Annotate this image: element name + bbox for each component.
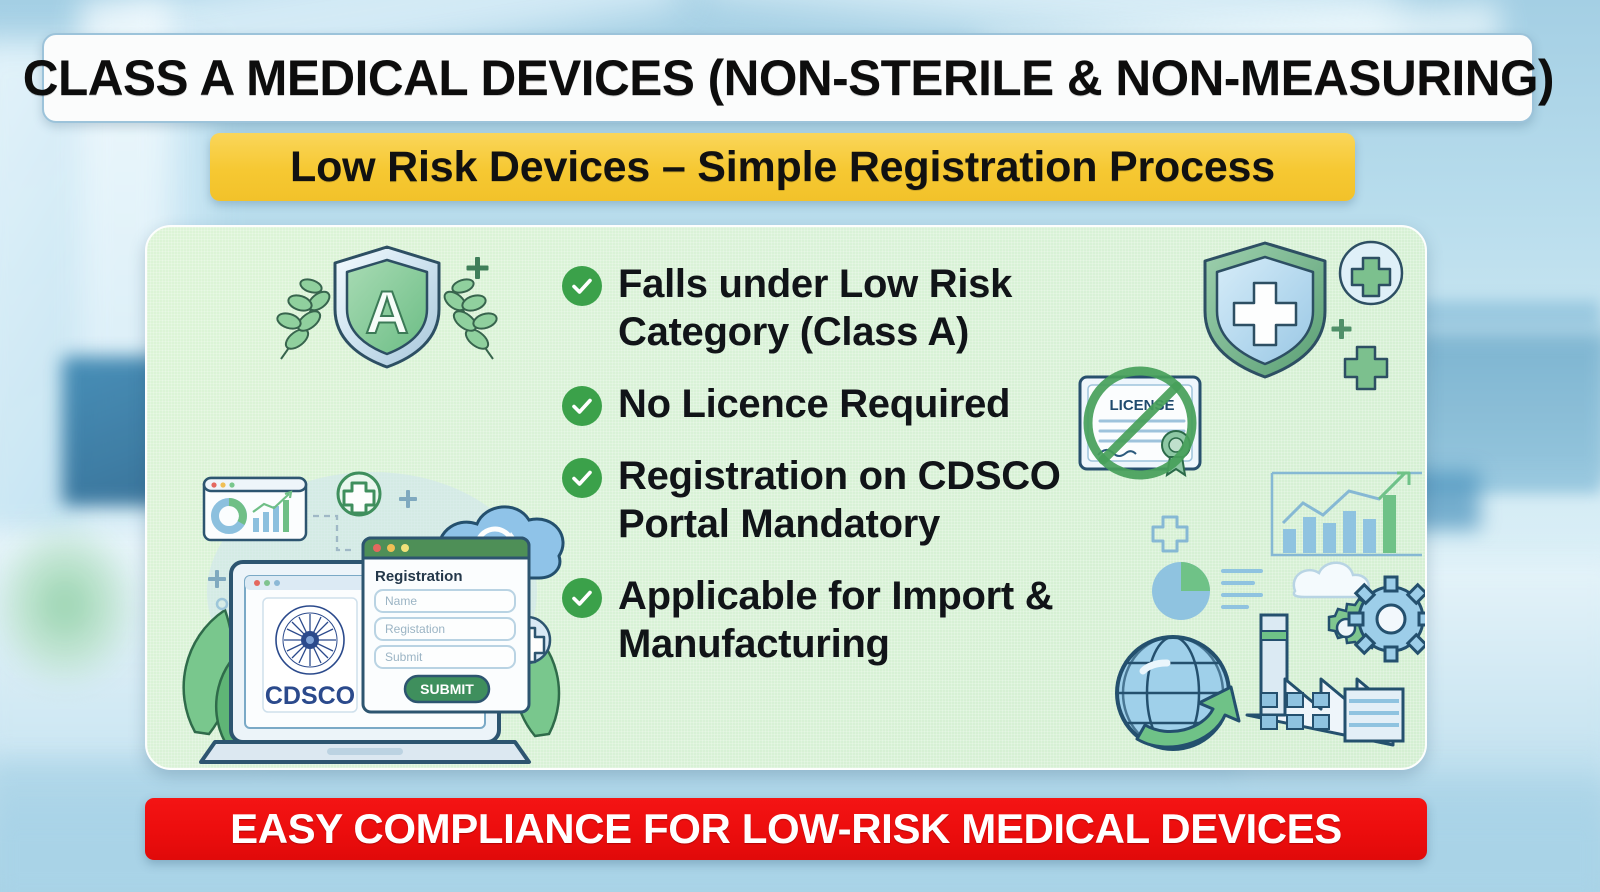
form-title-label: Registration [375, 568, 463, 585]
check-circle-icon [562, 458, 602, 498]
registration-form-window: Registration Name Registation Submit SUB… [363, 538, 529, 712]
feature-list: Falls under Low Risk Category (Class A) … [562, 260, 1102, 668]
globe-icon [1117, 637, 1239, 749]
global-manufacturing-illustration [1097, 467, 1427, 757]
footer-banner-text: EASY COMPLIANCE FOR LOW-RISK MEDICAL DEV… [230, 805, 1342, 853]
title-card: CLASS A MEDICAL DEVICES (NON-STERILE & N… [42, 33, 1534, 123]
cdsco-logo-label: CDSCO [265, 682, 355, 710]
background-plant [0, 520, 140, 690]
list-item: No Licence Required [562, 380, 1102, 428]
list-item: Applicable for Import & Manufacturing [562, 572, 1102, 668]
plus-icon [1153, 517, 1187, 551]
growth-chart-icon [1272, 473, 1422, 555]
form-field-name-label: Name [385, 594, 417, 608]
shield-medical-cross-illustration [1187, 235, 1417, 385]
cdsco-registration-illustration: CDSCO Registration Name Registat [167, 442, 577, 762]
subtitle-banner: Low Risk Devices – Simple Registration P… [210, 133, 1355, 201]
list-item-label: No Licence Required [618, 380, 1010, 428]
content-panel: A [145, 225, 1427, 770]
list-item: Registration on CDSCO Portal Mandatory [562, 452, 1102, 548]
background-cabinet-right [1410, 330, 1600, 480]
page-title: CLASS A MEDICAL DEVICES (NON-STERILE & N… [22, 49, 1553, 107]
check-circle-icon [562, 266, 602, 306]
list-item-label: Falls under Low Risk Category (Class A) [618, 260, 1102, 356]
shield-class-a-illustration: A [267, 241, 507, 371]
footer-banner: EASY COMPLIANCE FOR LOW-RISK MEDICAL DEV… [145, 798, 1427, 860]
form-field-submit-label: Submit [385, 650, 423, 664]
list-item-label: Registration on CDSCO Portal Mandatory [618, 452, 1102, 548]
form-field-registration-label: Registation [385, 622, 445, 636]
shield-letter-label: A [365, 279, 408, 346]
infographic-canvas: CLASS A MEDICAL DEVICES (NON-STERILE & N… [0, 0, 1600, 892]
list-item-label: Applicable for Import & Manufacturing [618, 572, 1102, 668]
check-circle-icon [562, 578, 602, 618]
gear-large-icon [1349, 577, 1427, 661]
pie-chart-icon [1152, 562, 1261, 620]
subtitle-text: Low Risk Devices – Simple Registration P… [290, 143, 1275, 192]
form-submit-button-label: SUBMIT [420, 681, 474, 697]
list-item: Falls under Low Risk Category (Class A) [562, 260, 1102, 356]
check-circle-icon [562, 386, 602, 426]
